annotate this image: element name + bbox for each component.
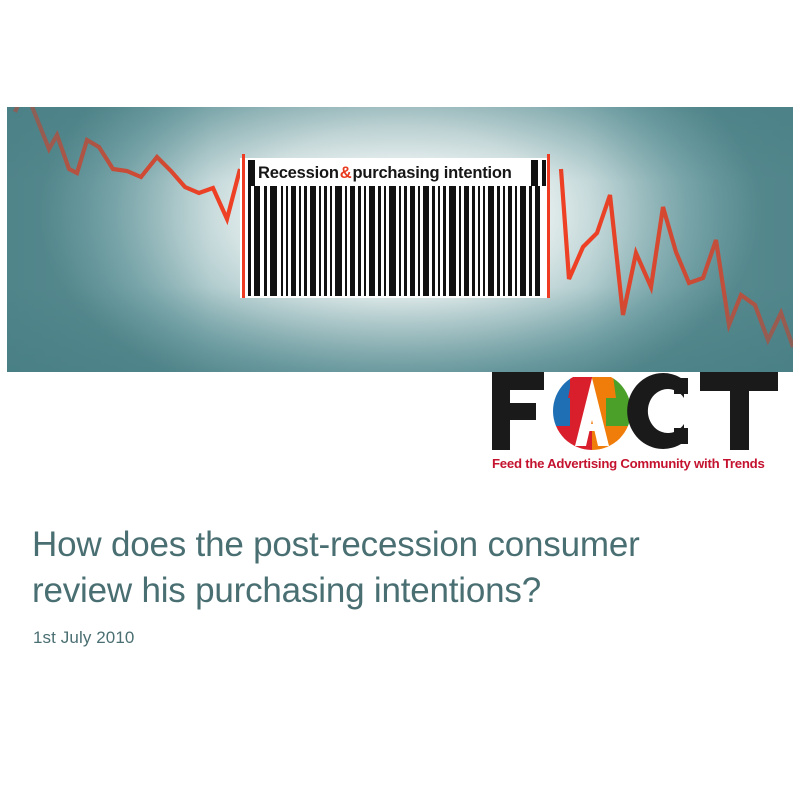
barcode-title-prefix: Recession (258, 164, 339, 183)
barcode-title: Recession & purchasing intention (240, 158, 550, 188)
barcode-cap-right-outer (542, 160, 546, 186)
presentation-date: 1st July 2010 (33, 628, 134, 648)
page-title-line-1: How does the post-recession consumer (32, 525, 640, 564)
fact-logo: Feed the Advertising Community with Tren… (488, 368, 788, 480)
barcode-cap-left (248, 160, 255, 186)
page-title: How does the post-recession consumer rev… (32, 522, 752, 614)
barcode-title-ampersand: & (339, 164, 353, 183)
barcode-graphic: Recession & purchasing intention (240, 158, 550, 298)
barcode-red-line-right (547, 154, 550, 298)
logo-letter-f-icon (492, 372, 544, 450)
page-title-line-2: review his purchasing intentions? (32, 568, 752, 614)
fact-tagline: Feed the Advertising Community with Tren… (492, 456, 788, 471)
barcode-bars (240, 186, 550, 296)
barcode-red-line-left (242, 154, 245, 298)
logo-letter-a-icon (548, 368, 636, 454)
title-slide: Recession & purchasing intention (0, 0, 800, 800)
fact-wordmark (488, 368, 788, 454)
barcode-cap-right (531, 160, 538, 186)
logo-letter-t-icon (700, 372, 778, 450)
barcode-title-suffix: purchasing intention (352, 164, 511, 183)
logo-letter-c-icon (627, 373, 688, 449)
